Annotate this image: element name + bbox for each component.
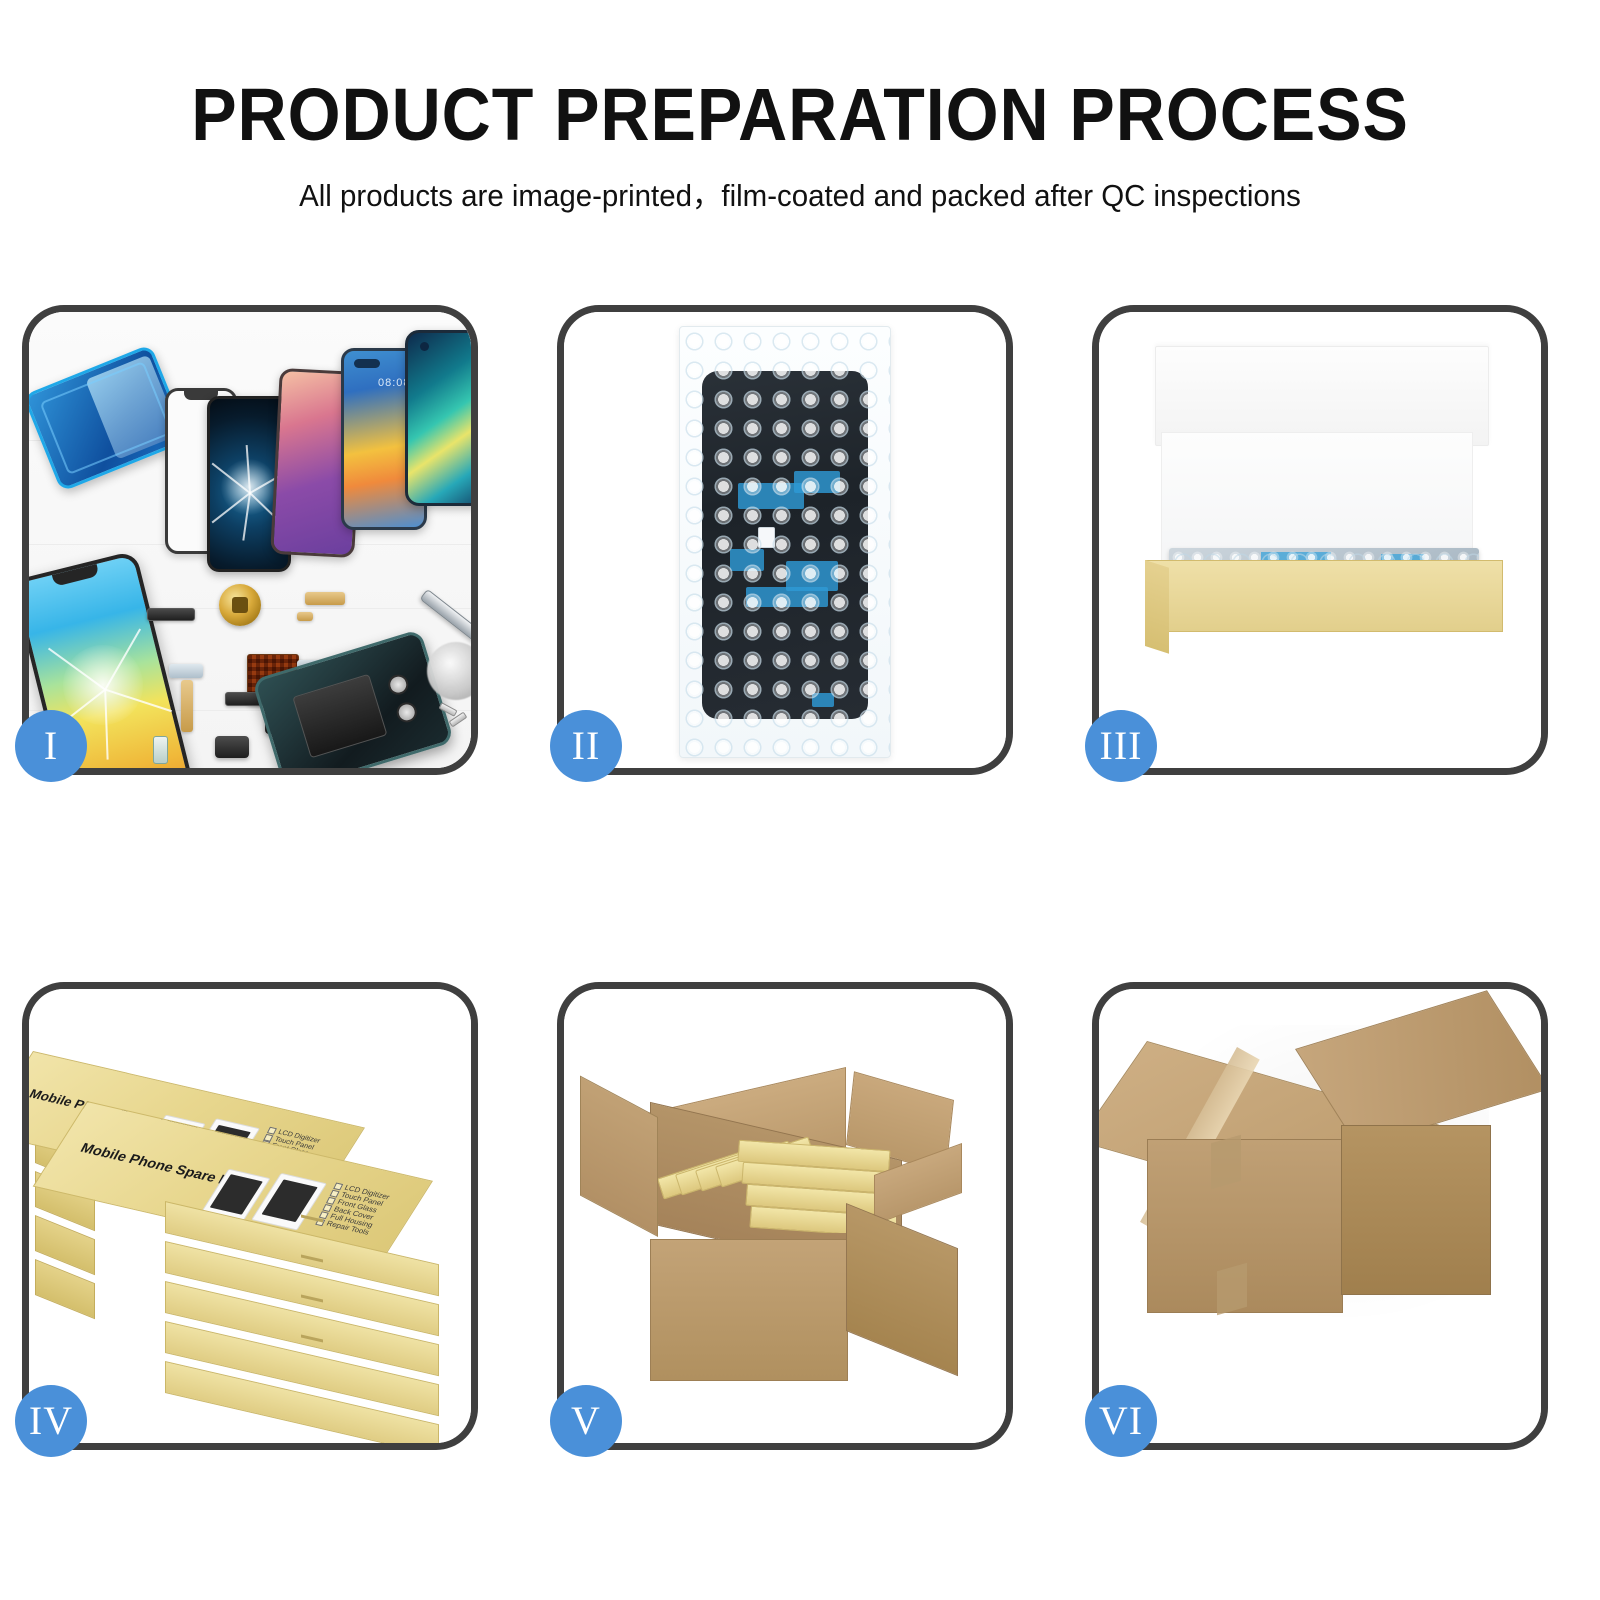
wireless-charging-coil-part <box>219 584 261 626</box>
tape-seam <box>1211 1135 1241 1190</box>
punch-hole-camera <box>354 359 380 368</box>
loudspeaker-part <box>215 736 249 758</box>
carton-front-flap-left <box>580 1076 658 1237</box>
volume-flex-part <box>297 612 313 621</box>
battery-part <box>292 673 388 758</box>
camera-ring <box>385 672 410 697</box>
qc-label-sticker <box>758 527 775 548</box>
step-panel-5[interactable]: V <box>557 982 1013 1450</box>
mailer-box-left-wall <box>1145 560 1169 654</box>
blue-protective-film <box>812 693 834 707</box>
step-3-image <box>1099 312 1541 768</box>
step-badge-2: II <box>550 710 622 782</box>
blue-protective-film <box>794 471 840 493</box>
step-4-image: Mobile Phone Spare Parts LCD Digitizer T… <box>29 989 471 1443</box>
step-badge-3: III <box>1085 710 1157 782</box>
step-panel-6[interactable]: VI <box>1092 982 1548 1450</box>
long-flex-cable-part <box>181 680 193 732</box>
sim-tray-part <box>153 736 168 764</box>
step-panel-1[interactable]: 08:08 <box>22 305 478 775</box>
box-checklist-b: LCD Digitizer Touch Panel Front Glass Ba… <box>315 1182 391 1238</box>
power-flex-cable-part <box>305 592 345 605</box>
punch-hole-camera <box>420 342 429 351</box>
step-badge-1: I <box>15 710 87 782</box>
mailer-box-open-lid <box>1155 346 1489 446</box>
step-panel-2[interactable]: II <box>557 305 1013 775</box>
mailer-box-front-wall <box>1145 560 1503 632</box>
step-6-image <box>1099 989 1541 1443</box>
packed-lcd-screen <box>702 371 868 719</box>
process-steps-grid: 08:08 <box>0 0 1600 1600</box>
step-panel-3[interactable]: III <box>1092 305 1548 775</box>
retail-box-stack: Mobile Phone Spare Parts LCD Digitizer T… <box>29 989 471 1443</box>
step-badge-6: VI <box>1085 1385 1157 1457</box>
blue-protective-film <box>730 549 764 571</box>
step-2-image <box>564 312 1006 768</box>
step-badge-5: V <box>550 1385 622 1457</box>
step-badge-4: IV <box>15 1385 87 1457</box>
carton-right-wall <box>846 1203 958 1376</box>
carton-side-wall <box>1341 1125 1491 1295</box>
tape-seam <box>1217 1263 1247 1316</box>
blue-protective-film <box>746 587 828 607</box>
step-1-image: 08:08 <box>29 312 471 768</box>
oled-display-panel <box>405 330 471 506</box>
taptic-engine-part <box>147 608 195 621</box>
step-5-image <box>564 989 1006 1443</box>
camera-flex-part <box>169 664 203 678</box>
camera-ring <box>394 700 419 725</box>
bubble-wrap-bag <box>679 326 891 758</box>
carton-front-wall <box>650 1239 848 1381</box>
step-panel-4[interactable]: Mobile Phone Spare Parts LCD Digitizer T… <box>22 982 478 1450</box>
